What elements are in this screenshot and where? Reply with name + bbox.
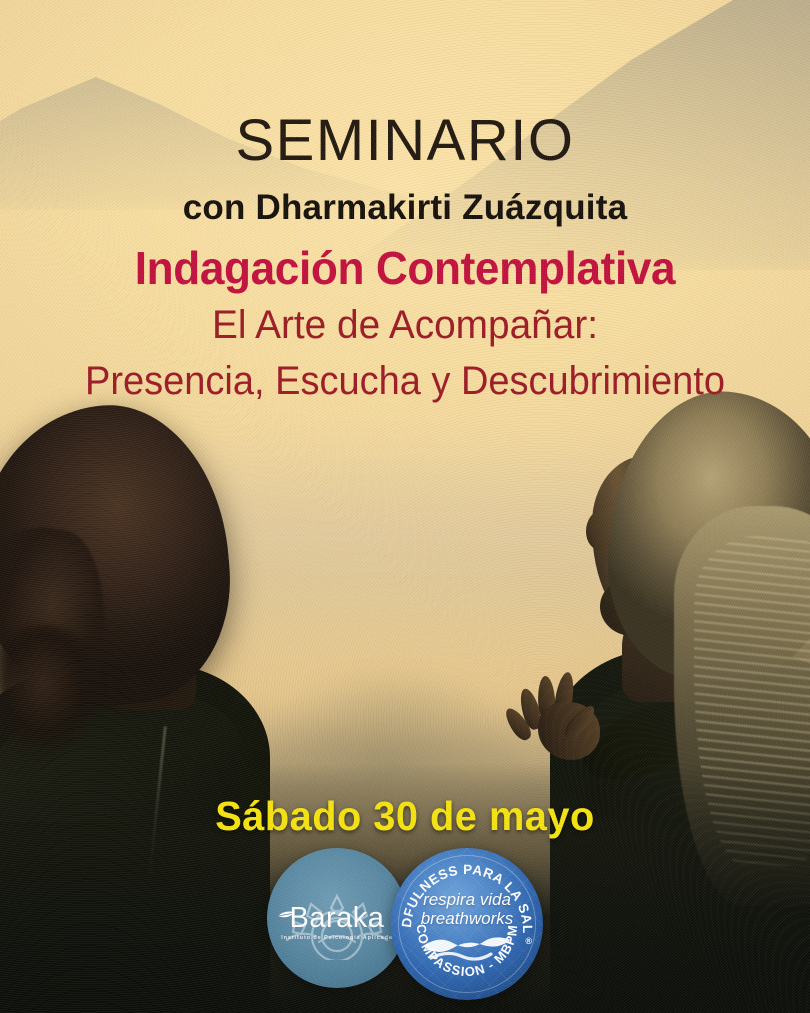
event-date: Sábado 30 de mayo xyxy=(12,793,798,840)
wave-icon xyxy=(421,934,513,964)
breathworks-line-1: respira vida xyxy=(391,890,543,909)
registered-trademark-mark: ® xyxy=(525,936,532,946)
logo-row: Baraka Instituto de Psicología Aplicada … xyxy=(0,848,810,1000)
baraka-wordmark: Baraka xyxy=(267,904,407,933)
headline-block: SEMINARIO con Dharmakirti Zuázquita Inda… xyxy=(0,112,810,401)
breathworks-center-text: respira vida breathworks xyxy=(391,890,543,928)
baraka-logo: Baraka Instituto de Psicología Aplicada xyxy=(267,848,407,988)
baraka-tagline: Instituto de Psicología Aplicada xyxy=(267,936,407,942)
presenter-name: con Dharmakirti Zuázquita xyxy=(0,190,810,225)
event-poster: SEMINARIO con Dharmakirti Zuázquita Inda… xyxy=(0,0,810,1013)
eyebrow-seminario: SEMINARIO xyxy=(0,112,810,170)
subtitle-line-2: Presencia, Escucha y Descubrimiento xyxy=(20,361,790,401)
right-figure-gesturing-hand xyxy=(516,672,612,764)
breathworks-line-2: breathworks xyxy=(391,909,543,928)
breathworks-logo: MINDFULNESS PARA LA SALUD COMPASSION - M… xyxy=(391,848,543,1000)
page-title: Indagación Contemplativa xyxy=(16,245,794,291)
subtitle-line-1: El Arte de Acompañar: xyxy=(12,305,798,345)
